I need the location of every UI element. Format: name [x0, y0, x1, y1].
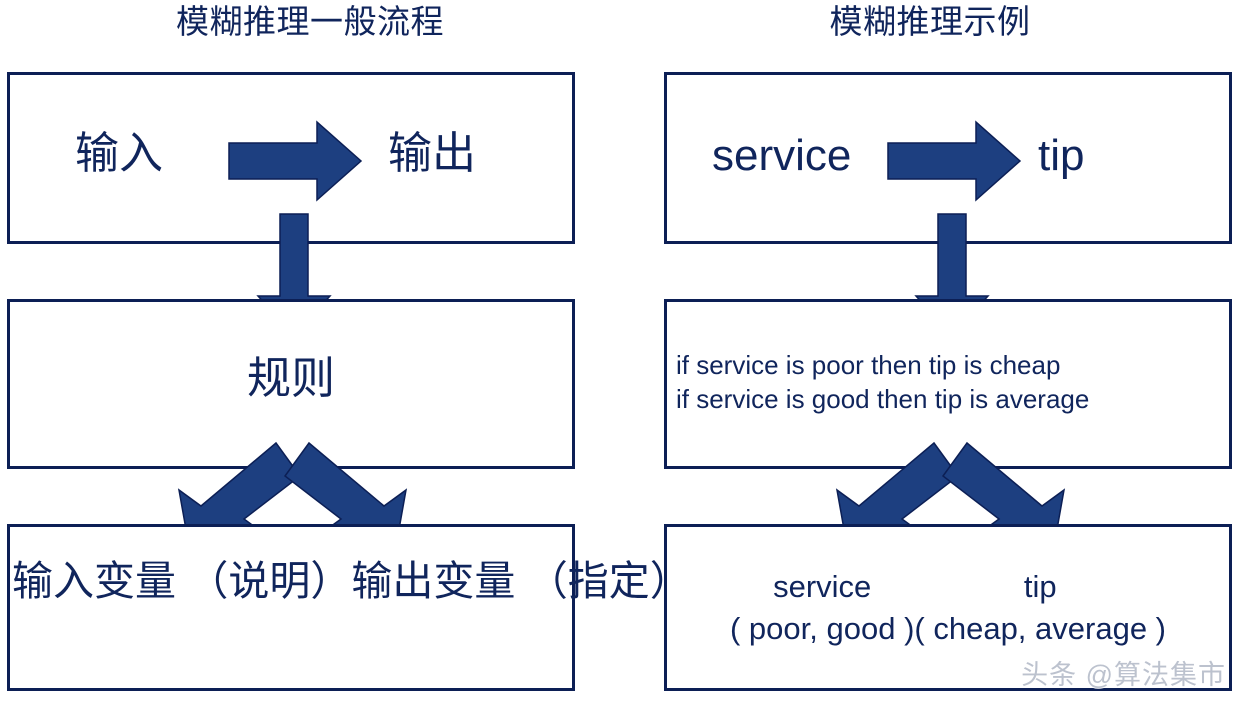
service-terms-sub: ( poor, good ) [730, 608, 914, 650]
variables-pair: 输入变量 （说明） 输出变量 （指定） [12, 556, 572, 606]
box-variables [7, 524, 575, 691]
label-input: 输入 [75, 128, 163, 180]
tip-terms-sub: ( cheap, average ) [914, 608, 1166, 650]
column-service-terms: service ( poor, good ) [730, 566, 914, 650]
right-block-arrow [888, 122, 1020, 200]
rule-line-2: if service is good then tip is average [676, 382, 1196, 416]
panel-general-process: 模糊推理一般流程 输入 输出 规则 输入变量 （说明） [0, 0, 620, 703]
panel-title-general-process: 模糊推理一般流程 [0, 2, 620, 42]
label-rules: 规则 [7, 352, 575, 406]
service-terms-head: service [730, 566, 914, 608]
watermark: 头条 @算法集市 [1021, 659, 1226, 691]
terms-pair: service ( poor, good ) tip ( cheap, aver… [668, 566, 1228, 650]
panel-title-example: 模糊推理示例 [620, 2, 1240, 42]
diagram-canvas: 模糊推理一般流程 输入 输出 规则 输入变量 （说明） [0, 0, 1240, 703]
input-variable-head: 输入变量 [12, 558, 176, 604]
label-tip: tip [1038, 130, 1084, 182]
output-variable-head: 输出变量 [351, 558, 515, 604]
label-output: 输出 [388, 128, 476, 180]
input-variable-sub: （说明） [187, 558, 351, 604]
tip-terms-head: tip [914, 566, 1166, 608]
label-service: service [712, 130, 851, 182]
column-input-variable: 输入变量 （说明） [12, 556, 351, 606]
right-block-arrow [229, 122, 361, 200]
rule-line-1: if service is poor then tip is cheap [676, 348, 1196, 382]
rules-text-block: if service is poor then tip is cheap if … [676, 348, 1196, 416]
column-tip-terms: tip ( cheap, average ) [914, 566, 1166, 650]
